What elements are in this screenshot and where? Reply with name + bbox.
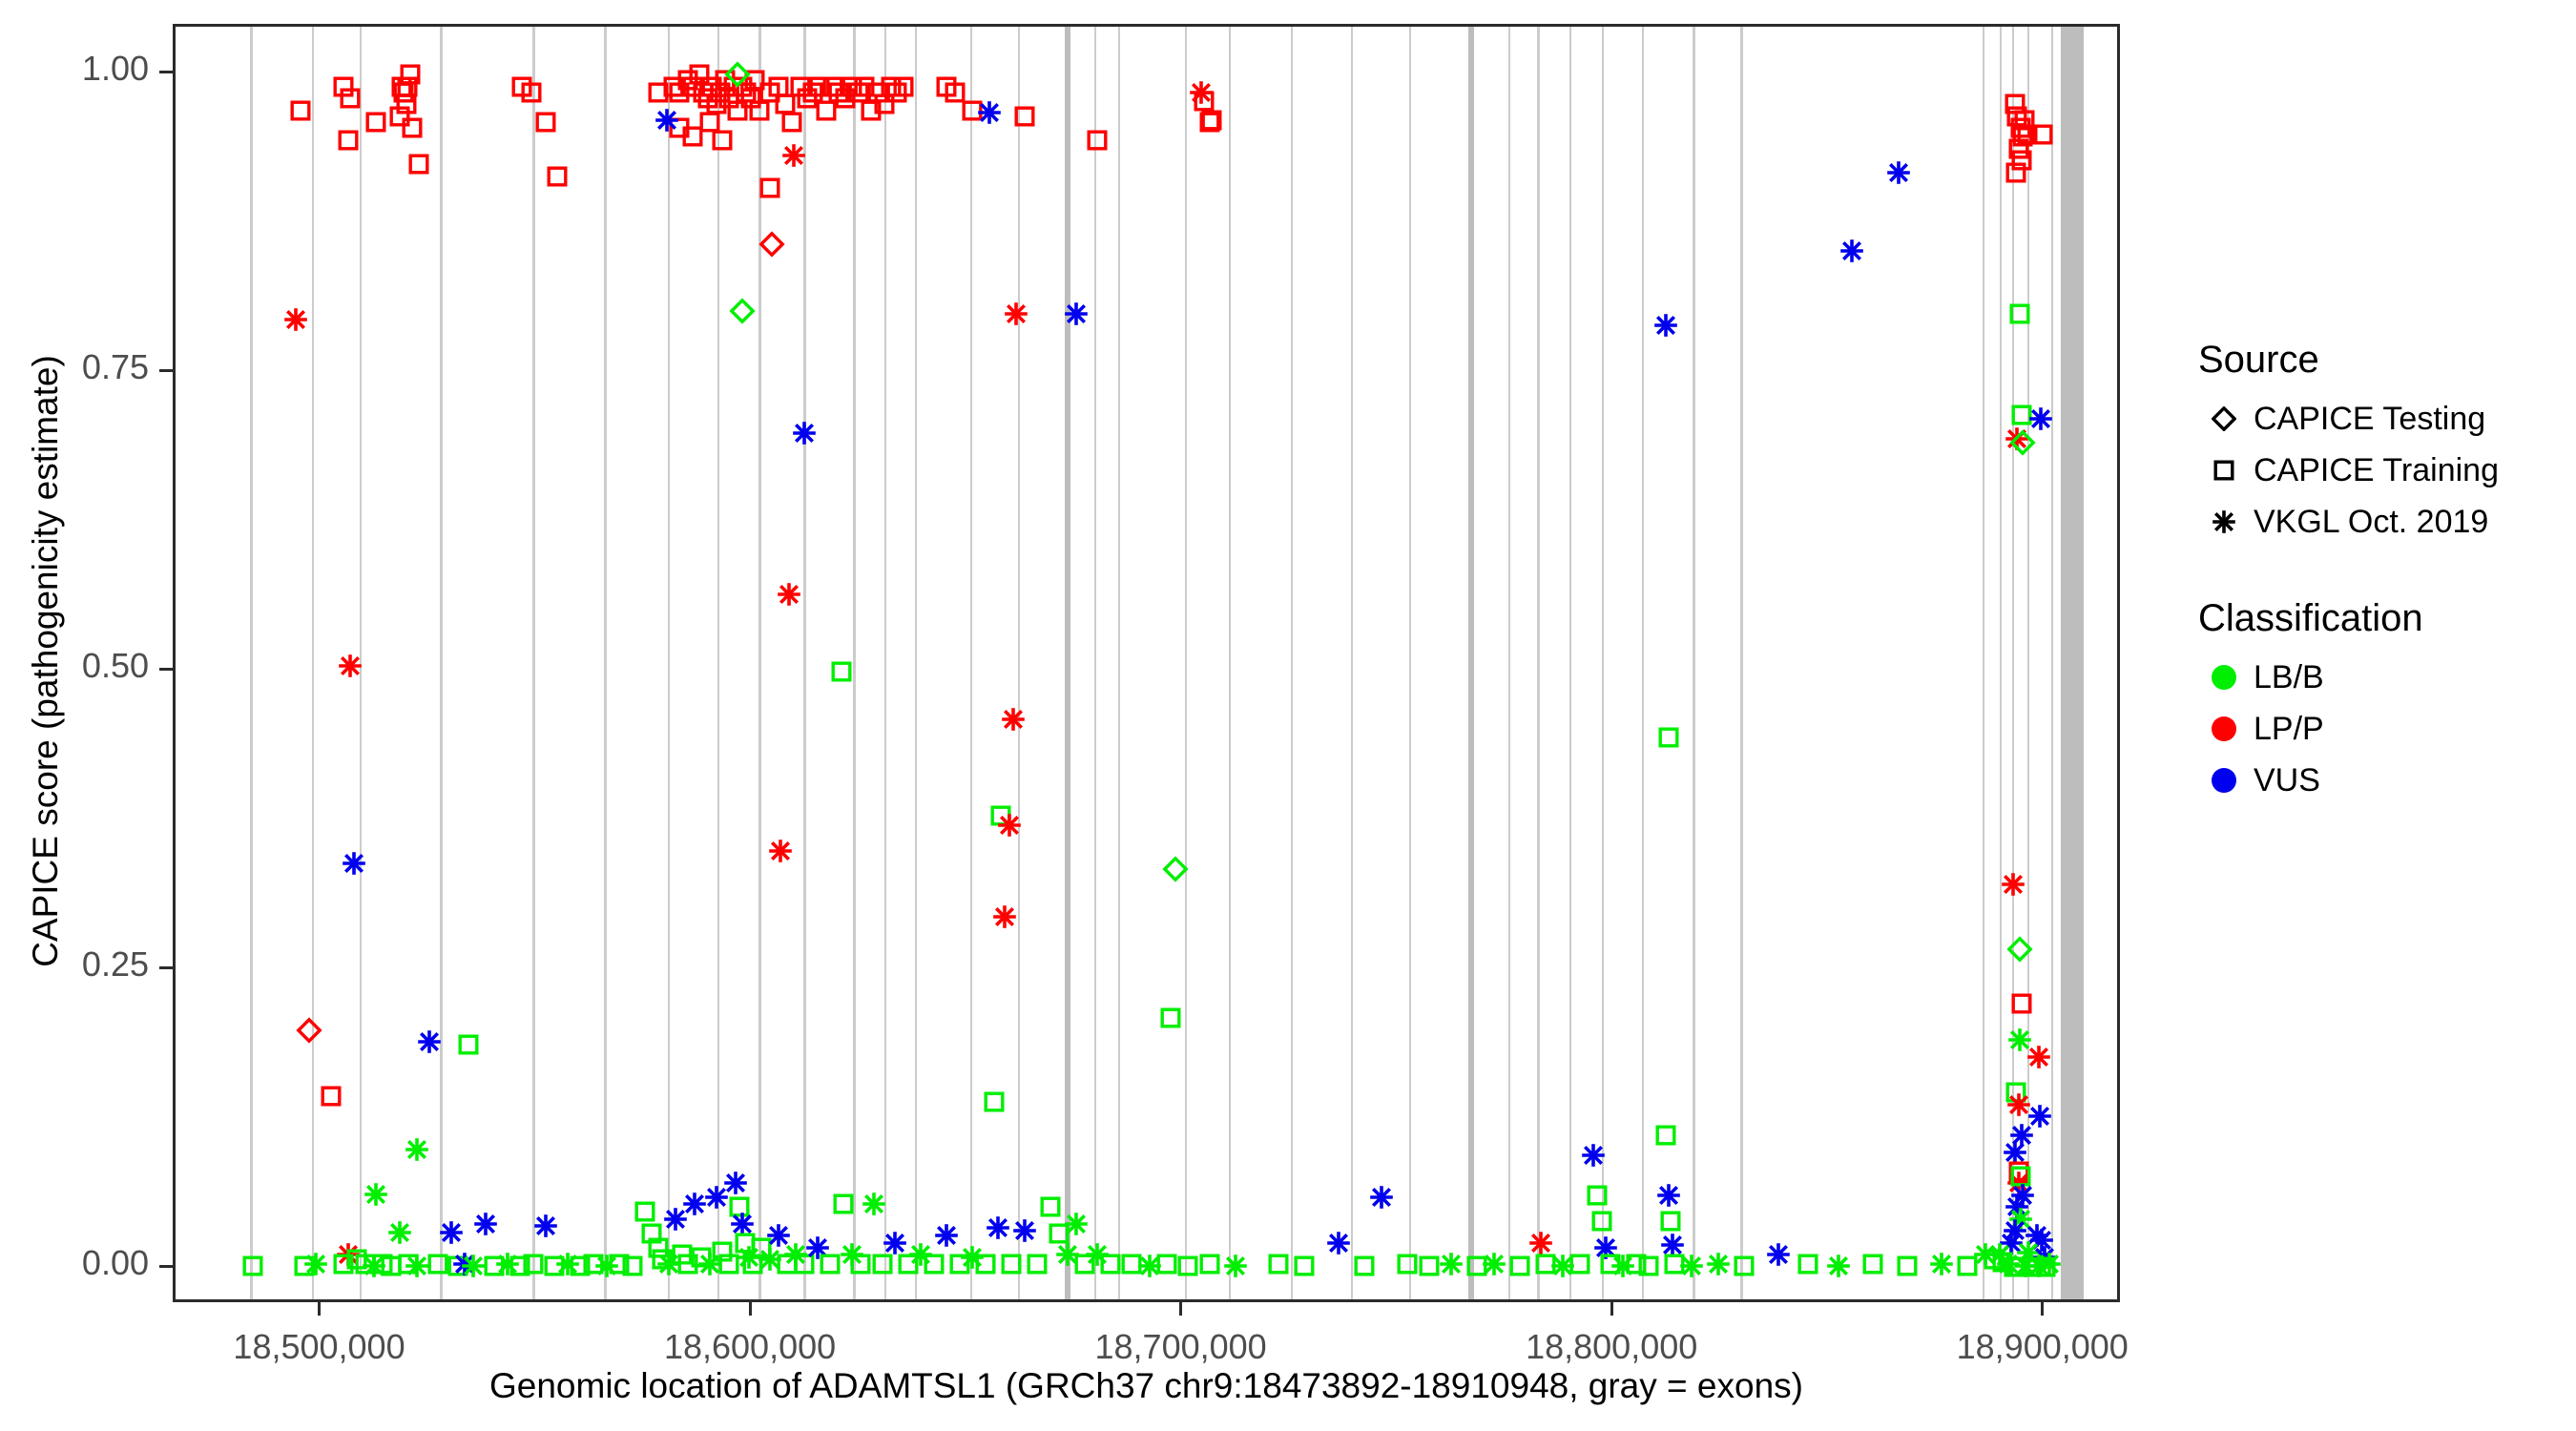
- data-point: [749, 1235, 774, 1260]
- data-point: [364, 1182, 388, 1207]
- legend-item-classification-VUS[interactable]: VUS: [2194, 755, 2566, 806]
- data-point: [727, 1194, 752, 1219]
- data-point: [781, 143, 806, 168]
- data-point: [689, 1245, 714, 1270]
- legend-spacer: [2194, 548, 2566, 597]
- data-point: [1886, 160, 1911, 185]
- data-point: [1085, 128, 1110, 153]
- data-point: [509, 74, 534, 99]
- data-point: [1189, 80, 1214, 105]
- exon-band: [250, 27, 253, 1299]
- data-point: [710, 1239, 735, 1264]
- data-point: [795, 86, 820, 111]
- x-axis-tick-label: 18,800,000: [1459, 1327, 1764, 1367]
- data-point: [663, 1207, 688, 1232]
- exon-band: [532, 27, 534, 1299]
- data-point: [400, 115, 425, 140]
- data-point: [788, 74, 813, 99]
- data-point: [364, 110, 388, 135]
- exon-band: [758, 27, 760, 1299]
- data-point: [775, 1252, 800, 1276]
- y-axis-tick-label: 1.00: [0, 49, 149, 89]
- data-point: [922, 1252, 946, 1276]
- data-point: [2003, 1218, 2027, 1243]
- x-axis-tick-label: 18,700,000: [1028, 1327, 1334, 1367]
- data-point: [908, 1242, 933, 1267]
- data-point: [1528, 1231, 1553, 1255]
- legend-group-source: CAPICE TestingCAPICE TrainingVKGL Oct. 2…: [2194, 393, 2566, 548]
- data-point: [1624, 1252, 1649, 1276]
- data-point: [2012, 108, 2037, 133]
- dot-icon: [2194, 665, 2254, 690]
- data-point: [934, 74, 959, 99]
- data-point: [725, 62, 750, 87]
- data-point: [758, 1247, 782, 1272]
- data-point: [818, 1252, 842, 1276]
- exon-band: [884, 27, 886, 1299]
- data-point: [973, 1252, 998, 1276]
- data-point: [2004, 160, 2028, 185]
- data-point: [2010, 430, 2035, 455]
- data-point: [620, 1254, 645, 1278]
- data-point: [398, 62, 423, 87]
- data-point: [807, 74, 832, 99]
- data-point: [391, 80, 416, 105]
- data-point: [297, 1018, 322, 1043]
- y-axis-tick: [159, 966, 173, 969]
- dot-icon: [2194, 716, 2254, 741]
- data-point: [646, 1235, 671, 1260]
- exon-band: [915, 27, 917, 1299]
- legend-item-source-vkgl[interactable]: VKGL Oct. 2019: [2194, 496, 2566, 548]
- x-axis-tick-label: 18,900,000: [1890, 1327, 2195, 1367]
- legend-group-classification: LB/BLP/PVUS: [2194, 652, 2566, 806]
- data-point: [1012, 1218, 1037, 1243]
- data-point: [396, 1252, 421, 1276]
- data-point: [734, 80, 758, 105]
- data-point: [982, 1089, 1007, 1114]
- data-point: [667, 80, 692, 105]
- data-point: [379, 1254, 404, 1278]
- data-point: [319, 1084, 343, 1109]
- data-point: [2003, 1140, 2027, 1165]
- data-point: [2010, 1183, 2035, 1208]
- data-point: [661, 74, 686, 99]
- data-point: [508, 1254, 532, 1278]
- y-axis-tick-label: 0.75: [0, 347, 149, 387]
- diamond-icon: [2194, 406, 2254, 431]
- data-point: [667, 115, 692, 140]
- data-point: [1796, 1252, 1820, 1276]
- data-point: [1417, 1254, 1442, 1278]
- data-point: [960, 1245, 985, 1270]
- x-axis-tick-label: 18,500,000: [167, 1327, 472, 1367]
- data-point: [331, 1252, 356, 1276]
- legend-title-source: Source: [2198, 339, 2566, 382]
- y-axis-tick: [159, 369, 173, 372]
- data-point: [759, 232, 784, 257]
- data-point: [456, 1032, 481, 1057]
- data-point: [2020, 1255, 2045, 1279]
- data-point: [405, 1254, 429, 1278]
- legend-label: VKGL Oct. 2019: [2254, 504, 2488, 541]
- data-point: [943, 80, 967, 105]
- y-axis-tick: [159, 1265, 173, 1268]
- data-point: [826, 80, 851, 105]
- data-point: [533, 110, 558, 135]
- exon-band: [1351, 27, 1353, 1299]
- data-point: [1004, 301, 1028, 326]
- x-axis-title: Genomic location of ADAMTSL1 (GRCh37 chr…: [173, 1366, 2120, 1406]
- data-point: [1192, 89, 1216, 114]
- data-point: [934, 1223, 959, 1248]
- data-point: [977, 100, 1002, 125]
- exon-band: [1291, 27, 1293, 1299]
- exon-band: [1229, 27, 1231, 1299]
- data-point: [1001, 707, 1026, 732]
- data-point: [405, 1137, 429, 1162]
- y-axis-tick-label: 0.25: [0, 944, 149, 985]
- data-point: [336, 128, 361, 153]
- data-point: [1766, 1242, 1791, 1267]
- data-point: [717, 86, 741, 111]
- data-point: [439, 1220, 464, 1245]
- data-point: [646, 80, 671, 105]
- dot-icon: [2194, 768, 2254, 793]
- data-point: [482, 1254, 507, 1278]
- x-axis-tick: [749, 1302, 752, 1316]
- data-point: [717, 1252, 741, 1276]
- legend-label: LP/P: [2254, 711, 2324, 748]
- data-point: [1395, 1252, 1420, 1276]
- data-point: [675, 68, 700, 93]
- data-point: [704, 1185, 729, 1210]
- data-point: [691, 80, 716, 105]
- data-point: [1929, 1252, 1954, 1276]
- data-point: [737, 1245, 761, 1270]
- legend-item-classification-LP-P[interactable]: LP/P: [2194, 703, 2566, 755]
- data-point: [2005, 426, 2029, 451]
- exon-band: [2051, 27, 2053, 1299]
- exon-band: [312, 27, 314, 1299]
- legend-item-source-testing[interactable]: CAPICE Testing: [2194, 393, 2566, 445]
- legend-label: VUS: [2254, 762, 2320, 799]
- exon-band: [1602, 27, 1604, 1299]
- data-point: [699, 74, 724, 99]
- data-point: [758, 80, 782, 105]
- data-point: [829, 659, 854, 684]
- exon-band: [2000, 27, 2002, 1299]
- data-point: [342, 851, 366, 876]
- exon-band: [2012, 27, 2014, 1299]
- data-point: [777, 582, 801, 607]
- data-point: [417, 1029, 442, 1054]
- data-point: [1038, 1194, 1063, 1219]
- y-axis-tick: [159, 668, 173, 671]
- legend-title-classification: Classification: [2198, 597, 2566, 640]
- data-point: [840, 74, 864, 99]
- data-point: [1660, 1233, 1685, 1257]
- exon-band: [1409, 27, 1411, 1299]
- data-point: [704, 92, 729, 116]
- data-point: [730, 299, 755, 323]
- data-point: [992, 904, 1017, 929]
- data-point: [2002, 1255, 2026, 1279]
- data-point: [723, 1171, 748, 1195]
- capice-scatter-figure: CAPICE score (pathogenicity estimate) Ge…: [0, 0, 2576, 1431]
- data-point: [389, 74, 414, 99]
- data-point: [805, 1235, 830, 1260]
- data-point: [654, 108, 679, 133]
- data-point: [519, 80, 544, 105]
- square-icon: [2194, 458, 2254, 483]
- data-point: [1154, 1252, 1179, 1276]
- data-point: [710, 128, 735, 153]
- data-point: [1025, 1252, 1049, 1276]
- data-point: [730, 74, 755, 99]
- legend: Source CAPICE TestingCAPICE TrainingVKGL…: [2194, 339, 2566, 806]
- exon-band: [1983, 27, 1984, 1299]
- data-point: [740, 1252, 765, 1276]
- data-point: [2010, 124, 2035, 149]
- data-point: [713, 68, 737, 93]
- data-point: [394, 92, 419, 116]
- plot-panel: [173, 24, 2120, 1302]
- data-point: [947, 1252, 972, 1276]
- data-point: [542, 1254, 567, 1278]
- data-point: [1439, 1252, 1464, 1276]
- data-point: [406, 152, 431, 176]
- data-point: [1610, 1254, 1635, 1278]
- data-point: [446, 1254, 470, 1278]
- data-point: [2026, 1254, 2051, 1278]
- data-point: [1266, 1252, 1291, 1276]
- data-point: [1895, 1254, 1920, 1278]
- asterisk-icon: [2194, 509, 2254, 534]
- data-point: [2033, 1255, 2058, 1279]
- data-point: [2026, 1045, 2051, 1069]
- exon-band: [360, 27, 362, 1299]
- data-point: [708, 80, 733, 105]
- exon-band: [1693, 27, 1694, 1299]
- data-point: [879, 74, 904, 99]
- exon-band: [853, 27, 855, 1299]
- data-point: [1585, 1183, 1610, 1208]
- data-point: [870, 1252, 895, 1276]
- data-point: [682, 1192, 707, 1216]
- data-point: [821, 74, 845, 99]
- data-point: [362, 1254, 386, 1278]
- data-point: [846, 80, 871, 105]
- data-point: [1507, 1254, 1532, 1278]
- legend-label: CAPICE Training: [2254, 452, 2499, 489]
- data-point: [1839, 238, 1864, 263]
- y-axis-tick-label: 0.00: [0, 1243, 149, 1283]
- data-point: [303, 1252, 328, 1276]
- data-point: [859, 98, 883, 123]
- data-point: [852, 74, 877, 99]
- data-point: [387, 104, 412, 129]
- data-point: [960, 98, 985, 123]
- data-point: [766, 74, 791, 99]
- data-point: [1955, 1254, 1980, 1278]
- data-point: [1656, 725, 1681, 750]
- data-point: [725, 98, 750, 123]
- exon-band: [803, 27, 805, 1299]
- data-point: [581, 1252, 606, 1276]
- x-axis-tick-label: 18,600,000: [597, 1327, 903, 1367]
- data-point: [840, 1242, 864, 1267]
- data-point: [1732, 1254, 1756, 1278]
- legend-item-source-training[interactable]: CAPICE Training: [2194, 445, 2566, 496]
- data-point: [848, 1252, 873, 1276]
- data-point: [1656, 1183, 1681, 1208]
- legend-label: CAPICE Testing: [2254, 401, 2485, 438]
- data-point: [988, 803, 1013, 828]
- data-point: [986, 1215, 1010, 1240]
- data-point: [495, 1252, 520, 1276]
- data-point: [1826, 1254, 1851, 1278]
- data-point: [1197, 110, 1222, 135]
- data-point: [594, 1254, 619, 1278]
- exon-band: [1018, 27, 1020, 1299]
- data-point: [1163, 857, 1188, 881]
- data-point: [633, 1199, 657, 1224]
- data-point: [1662, 1252, 1687, 1276]
- data-point: [395, 74, 420, 99]
- data-point: [1292, 1254, 1317, 1278]
- data-point: [1199, 108, 1224, 133]
- data-point: [344, 1247, 369, 1272]
- x-axis-tick: [1610, 1302, 1613, 1316]
- exon-band: [1468, 27, 1474, 1299]
- data-point: [1158, 1006, 1183, 1030]
- data-point: [2005, 104, 2029, 129]
- data-point: [426, 1252, 450, 1276]
- data-point: [884, 80, 909, 105]
- exon-band: [668, 27, 670, 1299]
- data-point: [1860, 1252, 1885, 1276]
- data-point: [2032, 1245, 2057, 1270]
- data-point: [1653, 1123, 1678, 1148]
- data-point: [670, 1242, 695, 1267]
- data-point: [1012, 104, 1037, 129]
- data-point: [283, 307, 308, 332]
- data-point: [680, 124, 705, 149]
- data-point: [675, 1252, 700, 1276]
- exon-band: [440, 27, 442, 1299]
- data-point: [696, 86, 720, 111]
- data-point: [639, 1221, 664, 1246]
- exon-band: [1118, 27, 1120, 1299]
- data-point: [2013, 1254, 2038, 1278]
- data-point: [650, 1247, 675, 1272]
- exon-band: [1508, 27, 1510, 1299]
- data-point: [1352, 1254, 1377, 1278]
- data-point: [1706, 1252, 1731, 1276]
- data-point: [331, 74, 356, 99]
- data-point: [1197, 1252, 1222, 1276]
- data-point: [1593, 1235, 1618, 1260]
- data-point: [2027, 1104, 2052, 1129]
- exon-band: [1094, 27, 1096, 1299]
- data-point: [1175, 1254, 1200, 1278]
- legend-item-classification-LB-B[interactable]: LB/B: [2194, 652, 2566, 703]
- data-point: [680, 74, 705, 99]
- data-point: [687, 62, 712, 87]
- data-point: [1223, 1254, 1248, 1278]
- exon-band: [2061, 27, 2084, 1299]
- exon-band: [2027, 27, 2029, 1299]
- data-point: [862, 1192, 886, 1216]
- data-point: [766, 1223, 791, 1248]
- data-point: [730, 1212, 755, 1236]
- y-axis-tick: [159, 71, 173, 73]
- exon-band: [1537, 27, 1539, 1299]
- data-point: [2037, 1252, 2062, 1276]
- data-point: [733, 1231, 758, 1255]
- data-point: [2005, 1194, 2029, 1219]
- data-point: [568, 1254, 592, 1278]
- data-point: [461, 1254, 486, 1278]
- y-axis-tick-label: 0.50: [0, 646, 149, 686]
- data-point: [555, 1252, 580, 1276]
- data-point: [533, 1213, 558, 1238]
- data-point: [1119, 1252, 1144, 1276]
- x-axis-tick: [2041, 1302, 2044, 1316]
- data-point: [891, 74, 916, 99]
- data-point: [545, 164, 570, 189]
- data-point: [721, 74, 746, 99]
- x-axis-tick: [318, 1302, 321, 1316]
- data-point: [779, 110, 804, 135]
- legend-label: LB/B: [2254, 659, 2324, 696]
- exon-band: [1065, 27, 1070, 1299]
- data-point: [1636, 1254, 1661, 1278]
- data-point: [1658, 1209, 1683, 1234]
- data-point: [768, 839, 793, 863]
- data-point: [2028, 406, 2053, 431]
- data-point: [1973, 1242, 1998, 1267]
- data-point: [814, 98, 839, 123]
- data-point: [607, 1252, 632, 1276]
- data-point: [240, 1254, 265, 1278]
- data-point: [353, 1252, 378, 1276]
- plot-area: [176, 27, 2117, 1299]
- data-point: [831, 1192, 856, 1216]
- exon-band: [1569, 27, 1571, 1299]
- data-point: [742, 68, 767, 93]
- data-point: [2003, 92, 2027, 116]
- data-point: [473, 1212, 498, 1236]
- exon-band: [604, 27, 606, 1299]
- data-point: [2004, 1080, 2028, 1105]
- data-point: [1326, 1231, 1351, 1255]
- data-point: [1653, 313, 1678, 338]
- data-point: [288, 98, 313, 123]
- exon-band: [1740, 27, 1742, 1299]
- exon-band: [970, 27, 972, 1299]
- exon-band: [1642, 27, 1644, 1299]
- data-point: [1482, 1252, 1506, 1276]
- data-point: [336, 1242, 361, 1267]
- data-point: [1085, 1242, 1110, 1267]
- data-point: [1369, 1185, 1394, 1210]
- data-point: [1137, 1254, 1162, 1278]
- exon-band: [717, 27, 719, 1299]
- data-point: [370, 1252, 395, 1276]
- exon-band: [1185, 27, 1187, 1299]
